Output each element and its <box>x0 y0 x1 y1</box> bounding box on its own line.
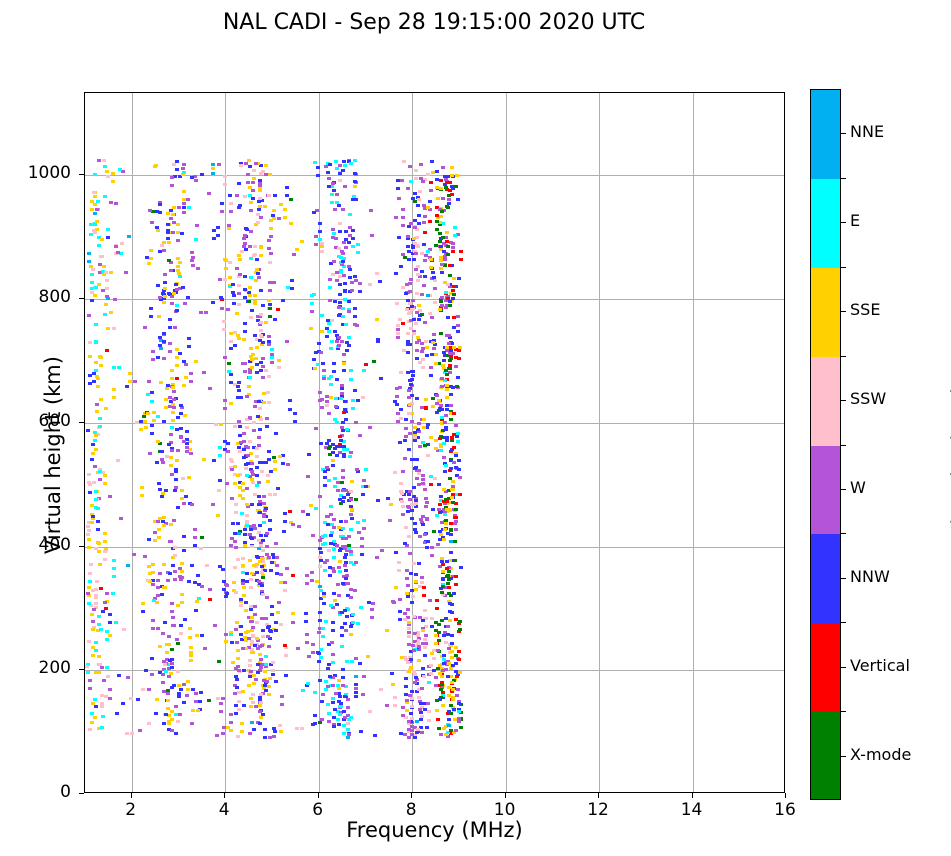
data-point <box>193 544 197 547</box>
data-point <box>113 298 117 301</box>
data-point <box>414 676 418 679</box>
data-point <box>186 688 190 691</box>
data-point <box>227 370 231 373</box>
data-point <box>96 385 100 388</box>
data-point <box>342 440 346 443</box>
data-point <box>243 195 247 198</box>
data-point <box>444 414 448 417</box>
data-point <box>126 676 130 679</box>
data-point <box>245 474 249 477</box>
data-point <box>410 697 414 700</box>
data-point <box>428 599 432 602</box>
data-point <box>233 344 237 347</box>
data-point <box>208 598 212 601</box>
data-point <box>456 330 460 333</box>
data-point <box>424 340 428 343</box>
data-point <box>343 164 347 167</box>
data-point <box>91 654 95 657</box>
data-point <box>242 237 246 240</box>
data-point <box>182 549 186 552</box>
data-point <box>151 571 155 574</box>
data-point <box>291 574 295 577</box>
data-point <box>236 396 240 399</box>
data-point <box>446 625 450 628</box>
data-point <box>360 545 364 548</box>
colorbar-tick-label: E <box>850 211 860 230</box>
data-point <box>272 217 276 220</box>
data-point <box>114 245 118 248</box>
data-point <box>259 334 263 337</box>
data-point <box>170 648 174 651</box>
data-point <box>199 311 203 314</box>
data-point <box>417 214 421 217</box>
data-point <box>121 702 125 705</box>
data-point <box>186 198 190 201</box>
data-point <box>267 335 271 338</box>
data-point <box>403 542 407 545</box>
data-point <box>250 721 254 724</box>
data-point <box>394 216 398 219</box>
data-point <box>219 702 223 705</box>
data-point <box>339 269 343 272</box>
data-point <box>325 327 329 330</box>
data-point <box>408 311 412 314</box>
colorbar-segment[interactable] <box>811 446 840 535</box>
data-point <box>407 506 411 509</box>
data-point <box>393 696 397 699</box>
data-point <box>203 647 207 650</box>
x-axis-tick <box>318 793 319 798</box>
data-point <box>100 238 104 241</box>
data-point <box>440 385 444 388</box>
data-point <box>353 172 357 175</box>
data-point <box>245 426 249 429</box>
data-point <box>171 419 175 422</box>
data-point <box>438 308 442 311</box>
data-point <box>250 620 254 623</box>
data-point <box>456 376 460 379</box>
data-point <box>344 577 348 580</box>
colorbar-tick-label: SSE <box>850 300 880 319</box>
data-point <box>215 734 219 737</box>
data-point <box>88 679 92 682</box>
data-point <box>87 546 91 549</box>
data-point <box>279 581 283 584</box>
data-point <box>407 448 411 451</box>
data-point <box>439 179 443 182</box>
data-point <box>242 440 246 443</box>
data-point <box>168 318 172 321</box>
data-point <box>252 674 256 677</box>
data-point <box>334 237 338 240</box>
colorbar-segment[interactable] <box>811 623 840 712</box>
data-point <box>439 533 443 536</box>
data-point <box>91 620 95 623</box>
data-point <box>255 621 259 624</box>
data-point <box>424 505 428 508</box>
data-point <box>260 663 264 666</box>
y-axis-tick <box>79 669 84 670</box>
data-point <box>402 160 406 163</box>
data-point <box>265 425 269 428</box>
data-point <box>439 587 443 590</box>
data-point <box>223 407 227 410</box>
colorbar-segment[interactable] <box>811 534 840 623</box>
data-point <box>102 273 106 276</box>
data-point <box>328 574 332 577</box>
data-point <box>248 165 252 168</box>
colorbar-tick <box>841 756 846 757</box>
data-point <box>426 454 430 457</box>
data-point <box>334 692 338 695</box>
data-point <box>164 406 168 409</box>
data-point <box>336 489 340 492</box>
data-point <box>407 670 411 673</box>
data-point <box>362 675 366 678</box>
data-point <box>254 357 258 360</box>
data-point <box>444 464 448 467</box>
data-point <box>173 554 177 557</box>
data-point <box>313 691 317 694</box>
data-point <box>349 633 353 636</box>
data-point <box>279 573 283 576</box>
data-point <box>436 649 440 652</box>
data-point <box>397 561 401 564</box>
data-point <box>445 408 449 411</box>
data-point <box>433 301 437 304</box>
data-point <box>164 713 168 716</box>
data-point <box>426 294 430 297</box>
data-point <box>116 459 120 462</box>
data-point <box>162 420 166 423</box>
data-point <box>405 577 409 580</box>
data-point <box>423 646 427 649</box>
data-point <box>204 311 208 314</box>
data-point <box>342 274 346 277</box>
data-point <box>176 642 180 645</box>
data-point <box>170 377 174 380</box>
data-point <box>320 245 324 248</box>
data-point <box>171 411 175 414</box>
data-point <box>429 475 433 478</box>
data-point <box>237 446 241 449</box>
data-point <box>449 522 453 525</box>
data-point <box>412 670 416 673</box>
data-point <box>347 310 351 313</box>
data-point <box>291 523 295 526</box>
data-point <box>162 332 166 335</box>
data-point <box>249 230 253 233</box>
data-point <box>89 233 93 236</box>
data-point <box>207 699 211 702</box>
data-point <box>291 612 295 615</box>
data-point <box>362 369 366 372</box>
data-point <box>429 374 433 377</box>
data-point <box>342 241 346 244</box>
data-point <box>172 292 176 295</box>
data-point <box>435 220 439 223</box>
data-point <box>305 582 309 585</box>
data-point <box>144 669 148 672</box>
data-point <box>451 246 455 249</box>
data-point <box>332 232 336 235</box>
data-point <box>248 416 252 419</box>
data-point <box>237 532 241 535</box>
data-point <box>190 503 194 506</box>
data-point <box>423 275 427 278</box>
data-point <box>421 180 425 183</box>
data-point <box>357 531 361 534</box>
data-point <box>132 553 136 556</box>
data-point <box>342 369 346 372</box>
data-point <box>106 236 110 239</box>
data-point <box>364 468 368 471</box>
data-point <box>235 267 239 270</box>
data-point <box>440 210 444 213</box>
data-point <box>446 574 450 577</box>
data-point <box>170 295 174 298</box>
data-point <box>417 339 421 342</box>
data-point <box>306 513 310 516</box>
data-point <box>408 165 412 168</box>
data-point <box>106 327 110 330</box>
data-point <box>169 269 173 272</box>
ionogram-figure: NAL CADI - Sep 28 19:15:00 2020 UTC 2468… <box>0 0 951 856</box>
data-point <box>335 201 339 204</box>
data-point <box>243 330 247 333</box>
data-point <box>350 508 354 511</box>
plot-area[interactable] <box>84 92 785 793</box>
data-point <box>240 722 244 725</box>
data-point <box>214 423 218 426</box>
data-point <box>343 400 347 403</box>
data-point <box>229 544 233 547</box>
data-point <box>392 601 396 604</box>
data-point <box>180 601 184 604</box>
data-point <box>167 241 171 244</box>
data-point <box>407 258 411 261</box>
data-point <box>182 502 186 505</box>
data-point <box>175 309 179 312</box>
data-point <box>229 340 233 343</box>
data-point <box>283 216 287 219</box>
data-point <box>259 329 263 332</box>
data-point <box>320 314 324 317</box>
data-point <box>350 517 354 520</box>
data-point <box>318 619 322 622</box>
data-point <box>156 520 160 523</box>
data-point <box>150 424 154 427</box>
data-point <box>332 716 336 719</box>
data-point <box>379 688 383 691</box>
data-point <box>320 250 324 253</box>
data-point <box>445 396 449 399</box>
data-point <box>354 695 358 698</box>
data-point <box>351 198 355 201</box>
data-point <box>170 176 174 179</box>
data-point <box>449 450 453 453</box>
data-point <box>243 533 247 536</box>
data-point <box>318 238 322 241</box>
data-point <box>166 689 170 692</box>
data-point <box>458 346 462 349</box>
data-point <box>321 635 325 638</box>
data-point <box>319 442 323 445</box>
data-point <box>268 289 272 292</box>
data-point <box>431 171 435 174</box>
data-point <box>156 627 160 630</box>
data-point <box>404 526 408 529</box>
x-axis-tick <box>598 793 599 798</box>
data-point <box>171 564 175 567</box>
data-point <box>234 628 238 631</box>
data-point <box>316 174 320 177</box>
data-point <box>232 581 236 584</box>
data-point <box>92 191 96 194</box>
data-point <box>318 230 322 233</box>
data-point <box>316 363 320 366</box>
data-point <box>410 305 414 308</box>
data-point <box>450 496 454 499</box>
data-point <box>340 481 344 484</box>
data-point <box>274 680 278 683</box>
colorbar-segment[interactable] <box>811 712 840 800</box>
data-point <box>103 558 107 561</box>
data-point <box>337 344 341 347</box>
data-point <box>331 273 335 276</box>
data-point <box>351 613 355 616</box>
colorbar-segment[interactable] <box>811 90 840 179</box>
data-point <box>157 536 161 539</box>
data-point <box>415 477 419 480</box>
data-point <box>345 349 349 352</box>
data-point <box>438 530 442 533</box>
data-point <box>268 677 272 680</box>
data-point <box>178 567 182 570</box>
data-point <box>434 447 438 450</box>
data-point <box>281 462 285 465</box>
data-point <box>341 500 345 503</box>
data-point <box>396 332 400 335</box>
data-point <box>450 656 454 659</box>
data-point <box>412 562 416 565</box>
colorbar[interactable] <box>810 89 841 800</box>
data-point <box>187 206 191 209</box>
data-point <box>333 708 337 711</box>
data-point <box>229 402 233 405</box>
data-point <box>87 252 91 255</box>
data-point <box>229 729 233 732</box>
data-layer <box>85 93 784 792</box>
data-point <box>408 343 412 346</box>
data-point <box>93 294 97 297</box>
data-point <box>337 723 341 726</box>
data-point <box>318 222 322 225</box>
data-point <box>274 432 278 435</box>
data-point <box>354 561 358 564</box>
data-point <box>170 184 174 187</box>
data-point <box>90 721 94 724</box>
data-point <box>173 326 177 329</box>
data-point <box>325 404 329 407</box>
data-point <box>162 563 166 566</box>
data-point <box>441 197 445 200</box>
data-point <box>356 622 360 625</box>
data-point <box>329 383 333 386</box>
data-point <box>182 384 186 387</box>
data-point <box>90 521 94 524</box>
data-point <box>293 412 297 415</box>
data-point <box>442 456 446 459</box>
data-point <box>311 643 315 646</box>
data-point <box>410 420 414 423</box>
data-point <box>414 531 418 534</box>
data-point <box>438 503 442 506</box>
data-point <box>211 167 215 170</box>
data-point <box>322 595 326 598</box>
data-point <box>407 631 411 634</box>
data-point <box>199 691 203 694</box>
data-point <box>318 495 322 498</box>
data-point <box>89 223 93 226</box>
colorbar-tick-label: Vertical <box>850 656 910 675</box>
data-point <box>258 511 262 514</box>
colorbar-segment[interactable] <box>811 179 840 268</box>
data-point <box>233 566 237 569</box>
colorbar-boundary-tick <box>841 356 846 357</box>
data-point <box>183 302 187 305</box>
data-point <box>343 716 347 719</box>
data-point <box>248 440 252 443</box>
data-point <box>197 597 201 600</box>
colorbar-segment[interactable] <box>811 268 840 357</box>
data-point <box>333 485 337 488</box>
data-point <box>273 318 277 321</box>
colorbar-boundary-tick <box>841 622 846 623</box>
colorbar-segment[interactable] <box>811 357 840 446</box>
data-point <box>200 173 204 176</box>
data-point <box>162 301 166 304</box>
data-point <box>94 341 98 344</box>
data-point <box>435 514 439 517</box>
data-point <box>336 583 340 586</box>
data-point <box>223 258 227 261</box>
data-point <box>102 159 106 162</box>
data-point <box>234 591 238 594</box>
data-point <box>255 563 259 566</box>
data-point <box>177 272 181 275</box>
data-point <box>196 267 200 270</box>
data-point <box>315 580 319 583</box>
data-point <box>167 675 171 678</box>
data-point <box>343 298 347 301</box>
data-point <box>95 208 99 211</box>
data-point <box>267 693 271 696</box>
data-point <box>186 296 190 299</box>
data-point <box>336 684 340 687</box>
data-point <box>211 301 215 304</box>
data-point <box>393 704 397 707</box>
data-point <box>353 180 357 183</box>
data-point <box>198 700 202 703</box>
data-point <box>405 308 409 311</box>
data-point <box>259 544 263 547</box>
data-point <box>390 672 394 675</box>
data-point <box>450 436 454 439</box>
data-point <box>333 418 337 421</box>
data-point <box>449 528 453 531</box>
colorbar-tick <box>841 578 846 579</box>
